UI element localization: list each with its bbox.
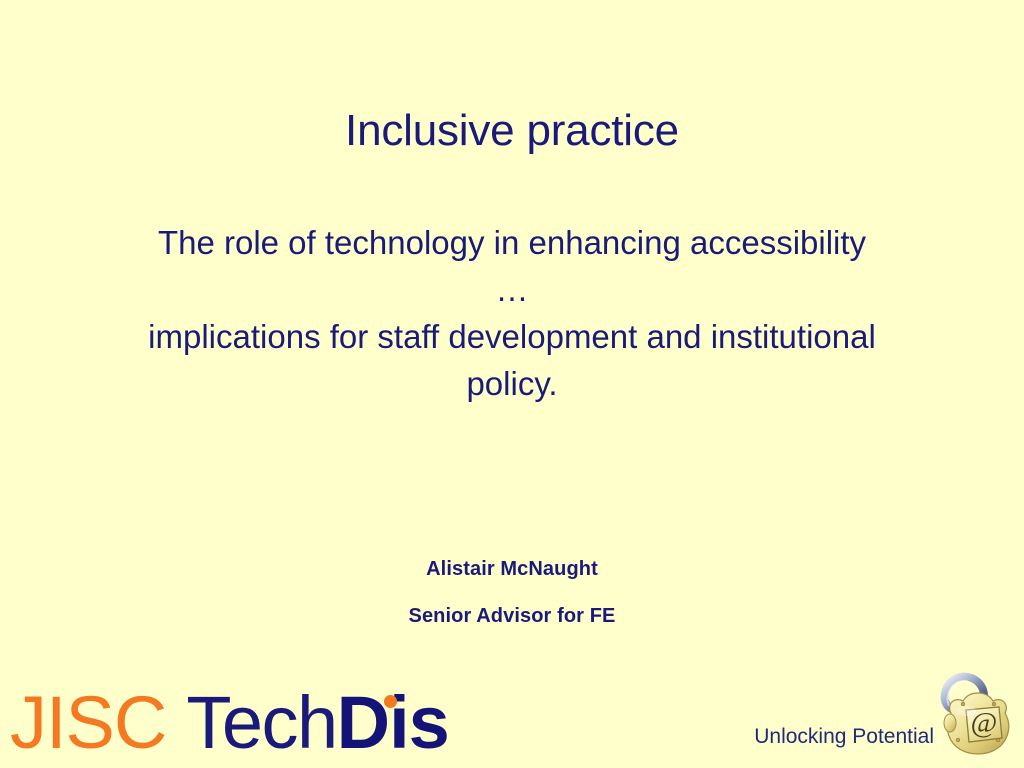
open-padlock-at-symbol-icon: @ [936,666,1020,762]
subtitle-ellipsis: … [137,266,887,313]
orange-dot-icon [384,695,397,708]
author-role: Senior Advisor for FE [0,601,1024,632]
logo-tech-text: Tech [186,686,336,760]
presentation-slide: Inclusive practice The role of technolog… [0,0,1024,768]
subtitle-line-1: The role of technology in enhancing acce… [137,219,887,266]
footer-tagline-group: Unlocking Potential [754,666,1020,762]
page-title: Inclusive practice [0,103,1024,159]
logo-jisc-text: JISC [10,686,166,760]
logo-dis-wrapper: Dis [337,686,449,760]
subtitle-line-2: implications for staff development and i… [137,313,887,407]
logo-dis-text: Dis [337,681,449,764]
attribution-block: Alistair McNaught Senior Advisor for FE [0,554,1024,632]
subtitle-block: The role of technology in enhancing acce… [137,219,887,407]
author-name: Alistair McNaught [0,554,1024,585]
tagline-text: Unlocking Potential [754,724,934,762]
jisc-techdis-logo: JISC Tech Dis [10,686,449,760]
